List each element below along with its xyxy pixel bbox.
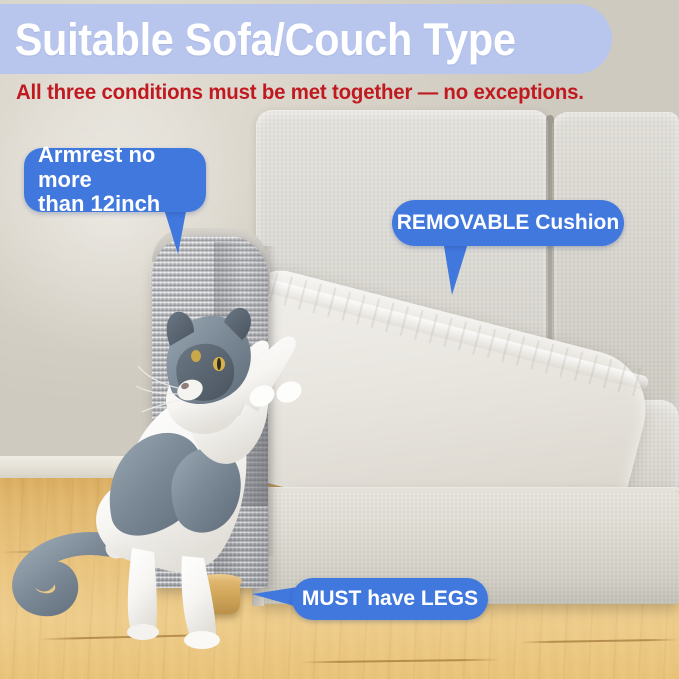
callout-legs[interactable]: MUST have LEGS (292, 578, 488, 620)
callout-cushion-tail (443, 240, 469, 295)
callout-cushion[interactable]: REMOVABLE Cushion (392, 200, 624, 246)
callout-armrest-label: Armrest no more than 12inch (38, 143, 194, 217)
cat-tail (24, 544, 108, 605)
subtitle-warning: All three conditions must be met togethe… (16, 80, 584, 105)
header-banner: Suitable Sofa/Couch Type (0, 4, 612, 74)
cat-hind-paw-back (127, 624, 159, 640)
page-title: Suitable Sofa/Couch Type (0, 17, 516, 62)
callout-legs-label: MUST have LEGS (302, 587, 478, 611)
callout-armrest[interactable]: Armrest no more than 12inch (24, 148, 206, 212)
cat-hind-paw-front (184, 631, 220, 649)
infographic-stage: Suitable Sofa/Couch Type All three condi… (0, 0, 679, 679)
cat-eye-left (191, 350, 201, 362)
cat-pupil-right (217, 358, 221, 370)
callout-cushion-label: REMOVABLE Cushion (397, 211, 619, 235)
cat-front-paw-right (273, 377, 305, 406)
